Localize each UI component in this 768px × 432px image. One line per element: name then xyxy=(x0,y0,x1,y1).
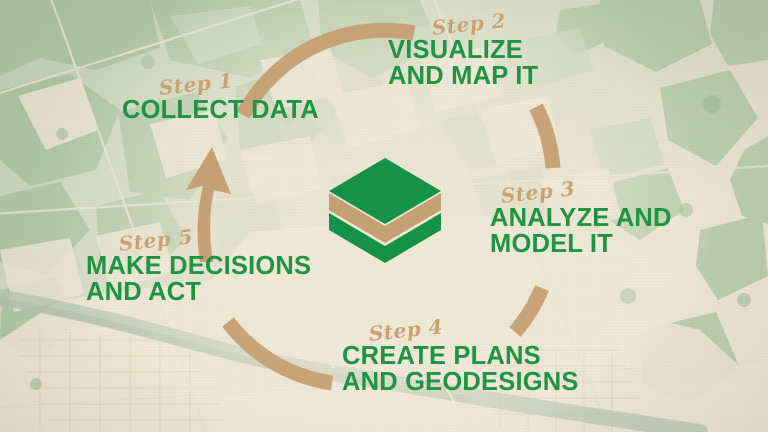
step-5-title-line-1: MAKE DECISIONS xyxy=(86,253,311,279)
step-1-label: Step 1 COLLECT DATA xyxy=(122,78,319,123)
step-1-title: COLLECT DATA xyxy=(122,97,319,123)
step-3-title-line-1: ANALYZE AND xyxy=(490,205,672,231)
step-4-title-line-2: AND GEODESIGNS xyxy=(342,369,579,395)
step-2-title-line-1: VISUALIZE xyxy=(388,37,538,63)
step-3-title-line-2: MODEL IT xyxy=(490,231,672,257)
step-1-title-line-1: COLLECT DATA xyxy=(122,97,319,123)
step-5-title: MAKE DECISIONS AND ACT xyxy=(86,253,311,306)
layers-icon xyxy=(325,148,445,268)
step-2-title: VISUALIZE AND MAP IT xyxy=(388,37,538,90)
step-2-label: Step 2 VISUALIZE AND MAP IT xyxy=(388,18,538,90)
arc-segment-right-upper xyxy=(536,107,553,168)
arc-segment-bottom-left xyxy=(228,322,332,383)
step-2-title-line-2: AND MAP IT xyxy=(388,63,538,89)
step-4-title: CREATE PLANS AND GEODESIGNS xyxy=(342,343,579,396)
step-5-label: Step 5 MAKE DECISIONS AND ACT xyxy=(86,234,311,306)
step-5-title-line-2: AND ACT xyxy=(86,279,311,305)
step-3-title: ANALYZE AND MODEL IT xyxy=(490,205,672,258)
step-3-label: Step 3 ANALYZE AND MODEL IT xyxy=(490,186,672,258)
step-4-title-line-1: CREATE PLANS xyxy=(342,343,579,369)
step-4-label: Step 4 CREATE PLANS AND GEODESIGNS xyxy=(342,324,579,396)
cycle-graphic: Step 1 COLLECT DATA Step 2 VISUALIZE AND… xyxy=(0,0,768,432)
